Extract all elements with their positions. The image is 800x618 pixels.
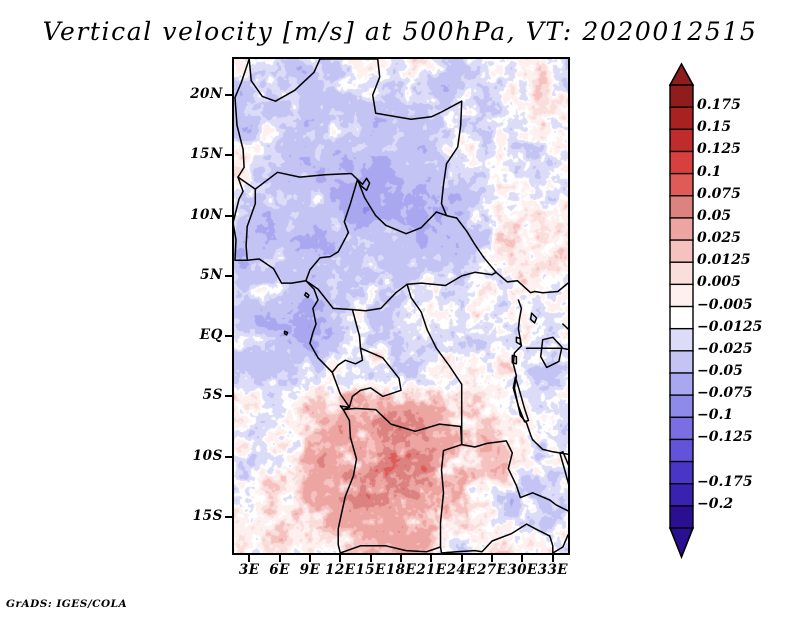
border-path [238,172,358,189]
colorbar-tick-label: 0.0125 [697,252,751,268]
colorbar-band [670,85,693,108]
x-tick [430,555,432,562]
colorbar-band [670,107,693,130]
border-path [407,272,496,285]
colorbar-band [670,151,693,174]
y-tick [225,275,232,277]
y-tick-label: 20N [0,86,223,102]
colorbar-band [670,284,693,307]
colorbar-band [670,329,693,352]
colorbar-band [670,307,693,330]
colorbar-tick-label: 0.05 [697,208,731,224]
border-path [407,284,462,444]
border-path [516,337,520,344]
y-tick [225,456,232,458]
map-plot-area [232,57,570,555]
colorbar-band [670,373,693,396]
colorbar-band [670,462,693,485]
colorbar-tick-label: 0.075 [697,186,741,202]
colorbar-tick-label: −0.05 [697,363,743,379]
border-path [338,410,356,553]
border-path [306,281,350,408]
border-path [553,535,568,553]
border-path [285,331,288,335]
colorbar-tick-label: −0.025 [697,341,753,357]
footer-credit: GrADS: IGES/COLA [6,598,127,610]
x-tick [461,555,463,562]
x-tick [521,555,523,562]
colorbar-tick-label: 0.125 [697,141,741,157]
colorbar-tick-label: −0.1 [697,407,733,423]
colorbar [670,63,693,558]
x-tick [248,555,250,562]
border-path [442,524,553,553]
border-path [235,98,244,178]
border-path [457,218,496,272]
colorbar-band [670,506,693,529]
chart-page: Vertical velocity [m/s] at 500hPa, VT: 2… [0,0,800,618]
colorbar-band [670,218,693,241]
border-path [235,259,306,283]
border-path [305,293,309,298]
border-path [306,180,358,281]
border-path [332,310,362,373]
border-path [249,59,320,101]
colorbar-tick-label: 0.025 [697,230,741,246]
y-tick [225,335,232,337]
x-tick [339,555,341,562]
colorbar-band [670,174,693,197]
y-tick-label: 15N [0,146,223,162]
y-tick-label: 10N [0,207,223,223]
border-path [441,445,462,553]
colorbar-tick-label: −0.2 [697,496,733,512]
border-path [235,59,249,98]
colorbar-tick-label: 0.1 [697,164,721,180]
border-path [246,189,255,259]
x-tick [552,555,554,562]
y-tick [225,516,232,518]
colorbar-band [670,417,693,440]
y-tick [225,395,232,397]
y-tick [225,94,232,96]
colorbar-arrow-top [670,64,693,85]
colorbar-band [670,351,693,374]
colorbar-band [670,439,693,462]
y-tick [225,215,232,217]
border-path [531,313,537,323]
border-path [358,180,447,234]
colorbar-band [670,484,693,507]
colorbar-band [670,196,693,219]
x-tick [309,555,311,562]
colorbar-band [670,240,693,263]
colorbar-band [670,262,693,285]
x-tick [400,555,402,562]
border-path [560,452,568,489]
border-path [563,324,568,329]
y-tick-label: 10S [0,448,223,464]
colorbar-tick-label: 0.15 [697,119,731,135]
colorbar-band [670,395,693,418]
border-path [340,546,440,553]
colorbar-tick-label: 0.175 [697,97,741,113]
country-borders-overlay [234,59,568,553]
colorbar-tick-label: −0.075 [697,385,753,401]
x-tick [370,555,372,562]
y-tick-label: 5N [0,267,223,283]
border-path [373,59,462,119]
y-tick [225,154,232,156]
y-tick-label: 5S [0,387,223,403]
colorbar-band [670,129,693,152]
colorbar-arrow-bottom [670,528,693,557]
colorbar-tick-label: 0.005 [697,274,741,290]
y-tick-label: EQ [0,327,223,343]
page-title: Vertical velocity [m/s] at 500hPa, VT: 2… [0,17,800,46]
colorbar-tick-label: −0.005 [697,297,753,313]
border-path [349,348,401,407]
colorbar-tick-label: −0.0125 [697,319,762,335]
x-tick-label: 33E [523,562,583,578]
border-path [535,283,568,293]
border-path [541,337,562,367]
colorbar-tick-label: −0.125 [697,429,753,445]
y-tick-label: 15S [0,508,223,524]
border-path [343,408,461,444]
border-path [234,177,243,260]
colorbar-tick-label: −0.175 [697,474,753,490]
border-path [306,281,407,311]
border-path [496,272,534,292]
border-path [442,101,462,218]
x-tick [279,555,281,562]
x-tick [491,555,493,562]
